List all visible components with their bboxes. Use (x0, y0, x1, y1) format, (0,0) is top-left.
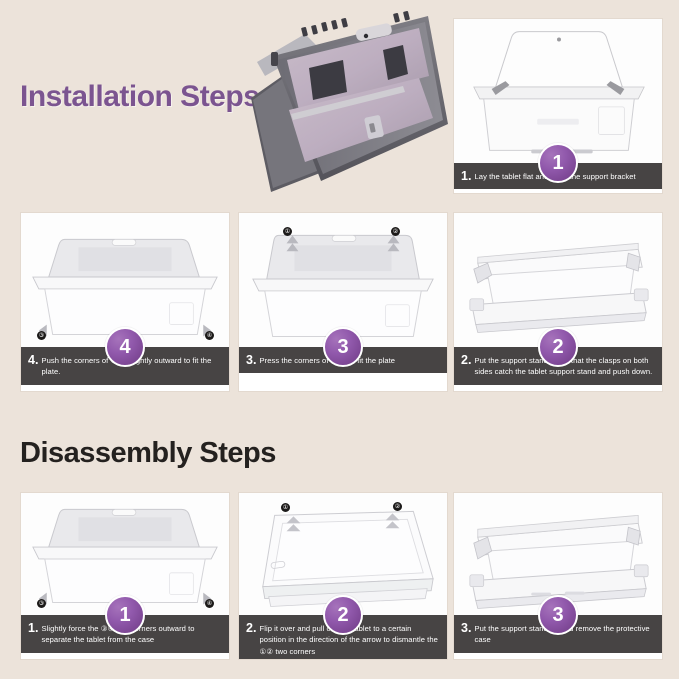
panel-art-install-1: 1 (454, 19, 662, 163)
panel-art-install-3: ① ② 3 (239, 213, 447, 347)
caption-number: 1. (461, 170, 472, 183)
caption-number: 2. (461, 354, 472, 367)
page-title-installation: Installation Steps (20, 80, 259, 114)
panel-install-step-4: ③ ④ 4 4. Push the corners of ③ ④ slightl… (20, 212, 230, 392)
hero-tablet-case-illustration (243, 6, 458, 198)
step-badge: 1 (538, 143, 578, 183)
corner-marker-1: ① (281, 503, 290, 512)
panel-art-disassembly-1: ③ ④ 1 (21, 493, 229, 615)
panel-art-install-4: ③ ④ 4 (21, 213, 229, 347)
caption-number: 3. (246, 354, 257, 367)
panel-install-step-2: 2 2. Put the support stand up so that th… (453, 212, 663, 392)
caption-number: 1. (28, 622, 39, 635)
step-badge: 4 (105, 327, 145, 367)
page-title-disassembly: Disassembly Steps (20, 437, 276, 470)
panel-art-disassembly-3: 3 (454, 493, 662, 615)
panel-art-disassembly-2: ① ② 2 (239, 493, 447, 615)
corner-marker-3: ③ (37, 599, 46, 608)
panel-install-step-1: 1 1. Lay the tablet flat and open the su… (453, 18, 663, 194)
step-badge: 1 (105, 595, 145, 635)
caption-number: 2. (246, 622, 257, 635)
step-badge: 3 (323, 327, 363, 367)
corner-marker-4: ④ (205, 599, 214, 608)
caption-number: 4. (28, 354, 39, 367)
corner-marker-2: ② (393, 502, 402, 511)
panel-disassembly-step-2: ① ② 2 2. Flip it over and pull out the t… (238, 492, 448, 660)
step-badge: 2 (323, 595, 363, 635)
step-badge: 3 (538, 595, 578, 635)
step-badge: 2 (538, 327, 578, 367)
corner-marker-1: ① (283, 227, 292, 236)
infographic-page: Installation Steps (0, 0, 679, 679)
panel-install-step-3: ① ② 3 3. Press the corners of ① ② to fit… (238, 212, 448, 392)
panel-art-install-2: 2 (454, 213, 662, 347)
corner-marker-2: ② (391, 227, 400, 236)
corner-marker-3: ③ (37, 331, 46, 340)
panel-disassembly-step-3: 3 3. Put the support stand up and remove… (453, 492, 663, 660)
panel-disassembly-step-1: ③ ④ 1 1. Slightly force the ③④ two corne… (20, 492, 230, 660)
caption-number: 3. (461, 622, 472, 635)
corner-marker-4: ④ (205, 331, 214, 340)
